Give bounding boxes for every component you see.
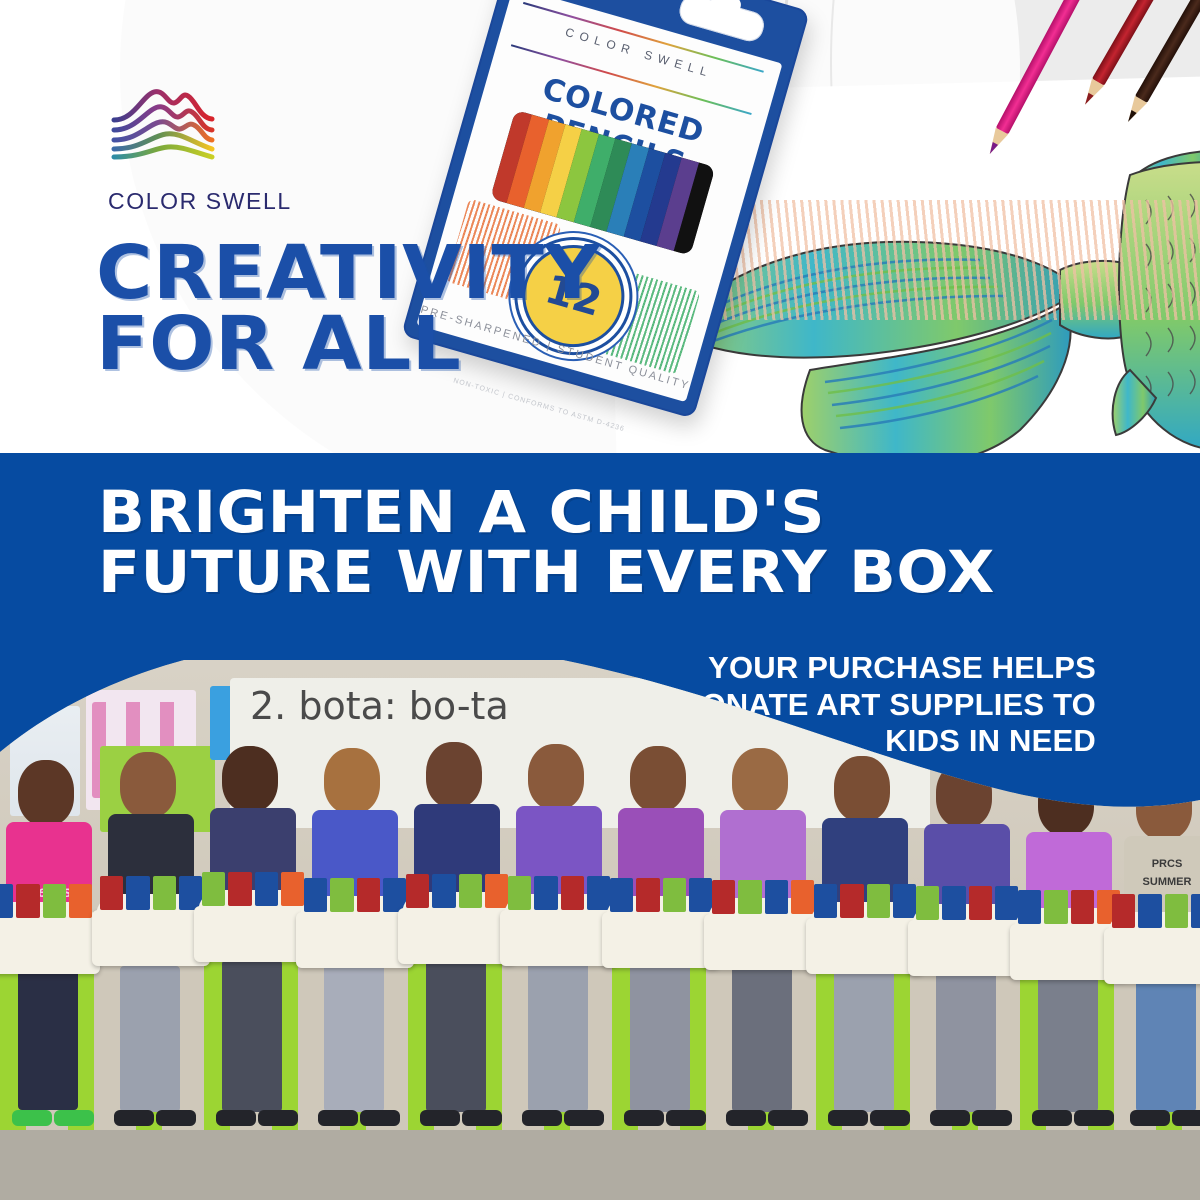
supply-tray — [500, 910, 618, 966]
child — [312, 730, 398, 1130]
child — [210, 730, 296, 1130]
supply-packs — [916, 886, 1018, 920]
child-head — [324, 748, 380, 814]
floor — [0, 1130, 1200, 1200]
child-shoe — [216, 1110, 256, 1126]
child: Herbs — [6, 730, 92, 1130]
child-legs — [1038, 966, 1098, 1112]
child-legs — [834, 964, 894, 1112]
supply-packs — [304, 878, 406, 912]
child-shoe — [564, 1110, 604, 1126]
child-shoe — [156, 1110, 196, 1126]
shirt-text-line2: SUMMER — [1124, 876, 1200, 888]
child — [108, 730, 194, 1130]
child-shoe — [930, 1110, 970, 1126]
hero-headline-line1: CREATIVITY — [96, 238, 601, 309]
child-head — [426, 742, 482, 808]
child-head — [222, 746, 278, 812]
supply-packs — [406, 874, 508, 908]
child-shoe — [258, 1110, 298, 1126]
child-head — [732, 748, 788, 814]
child-head — [630, 746, 686, 812]
child-head — [120, 752, 176, 818]
child-legs — [936, 966, 996, 1112]
band-headline: BRIGHTEN A CHILD'S FUTURE WITH EVERY BOX — [98, 482, 1052, 603]
supply-tray — [1104, 928, 1200, 984]
supply-packs — [1112, 894, 1200, 928]
supply-tray — [602, 912, 720, 968]
child-shoe — [624, 1110, 664, 1126]
child-shoe — [1074, 1110, 1114, 1126]
child-shoe — [522, 1110, 562, 1126]
child-shoe — [420, 1110, 460, 1126]
supply-packs — [100, 876, 202, 910]
child-head — [834, 756, 890, 822]
band-headline-line1: BRIGHTEN A CHILD'S — [98, 482, 1052, 542]
swell-wave-logo-icon — [108, 86, 284, 186]
supply-packs — [508, 876, 610, 910]
child — [720, 730, 806, 1130]
supply-packs — [1018, 890, 1120, 924]
child-legs — [630, 960, 690, 1112]
child-legs — [528, 960, 588, 1112]
child-shoe — [54, 1110, 94, 1126]
logo-wordmark: COLOR SWELL — [108, 188, 284, 215]
child-legs — [18, 970, 78, 1110]
child — [822, 730, 908, 1130]
child — [618, 730, 704, 1130]
child-shoe — [726, 1110, 766, 1126]
child-legs — [222, 960, 282, 1112]
child-shoe — [318, 1110, 358, 1126]
child-shoe — [870, 1110, 910, 1126]
supply-packs — [202, 872, 304, 906]
child — [516, 730, 602, 1130]
child-shoe — [828, 1110, 868, 1126]
supply-tray — [92, 910, 210, 966]
brand-logo[interactable]: COLOR SWELL — [108, 86, 284, 215]
supply-tray — [806, 918, 924, 974]
supply-tray — [704, 914, 822, 970]
child-shoe — [360, 1110, 400, 1126]
supply-packs — [0, 884, 92, 918]
child-shoe — [1172, 1110, 1200, 1126]
hero-headline-line2: FOR ALL — [96, 309, 601, 380]
child — [414, 730, 500, 1130]
marketing-banner: COLOR SWELL COLORED PENCILS 12 PRE-SHARP… — [0, 0, 1200, 1200]
supply-tray — [0, 918, 100, 974]
child-head — [528, 744, 584, 810]
supply-tray — [398, 908, 516, 964]
child-shoe — [462, 1110, 502, 1126]
child-legs — [324, 960, 384, 1112]
child-shoe — [972, 1110, 1012, 1126]
supply-packs — [814, 884, 916, 918]
supply-packs — [712, 880, 814, 914]
supply-packs — [610, 878, 712, 912]
band-headline-line2: FUTURE WITH EVERY BOX — [98, 542, 1052, 602]
hero-headline: CREATIVITY FOR ALL — [96, 238, 601, 380]
child-legs — [732, 960, 792, 1112]
whiteboard-text: 2. bota: bo-ta — [250, 684, 509, 728]
supply-tray — [296, 912, 414, 968]
supply-tray — [908, 920, 1026, 976]
child-shoe — [114, 1110, 154, 1126]
child-legs — [120, 966, 180, 1112]
child-shoe — [666, 1110, 706, 1126]
child-shoe — [12, 1110, 52, 1126]
child-shoe — [1130, 1110, 1170, 1126]
child-head — [18, 760, 74, 826]
child-shoe — [768, 1110, 808, 1126]
child-legs — [1136, 970, 1196, 1112]
shirt-text-line1: PRCS — [1124, 858, 1200, 870]
child-legs — [426, 960, 486, 1112]
child — [924, 730, 1010, 1130]
child-shoe — [1032, 1110, 1072, 1126]
supply-tray — [194, 906, 312, 962]
